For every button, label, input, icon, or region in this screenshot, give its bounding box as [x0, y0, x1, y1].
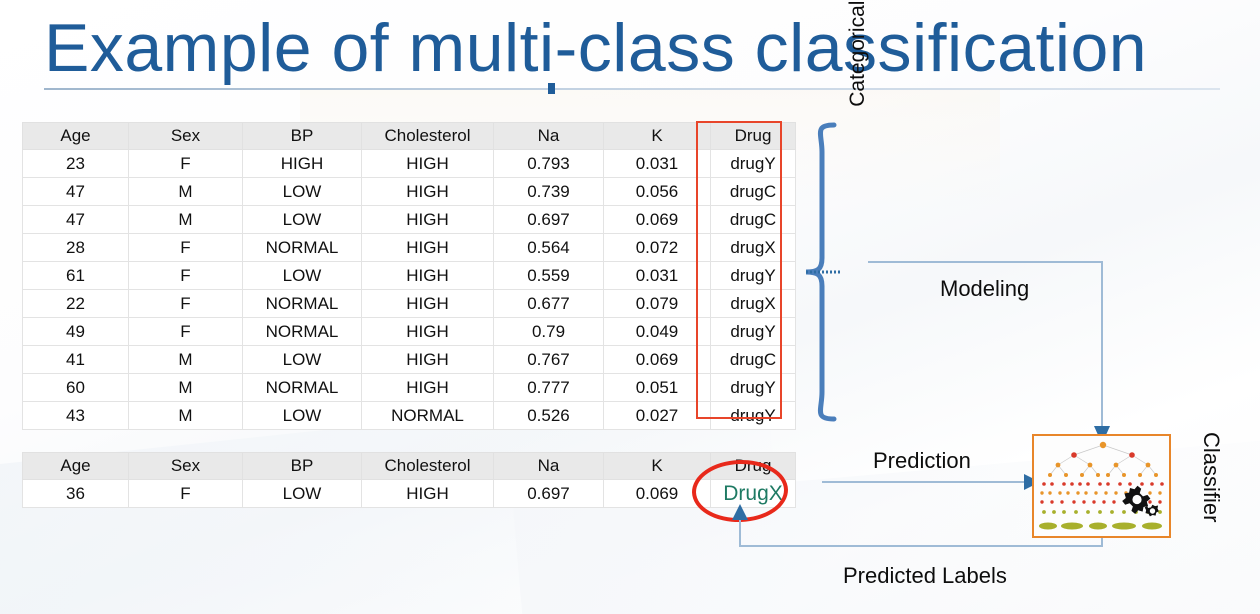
cell-k: 0.079: [604, 290, 711, 318]
cell-chol: HIGH: [362, 374, 494, 402]
cell-bp: LOW: [243, 178, 362, 206]
cell-drug: drugY: [711, 318, 796, 346]
slide-canvas: Example of multi-class classification Ag…: [0, 0, 1260, 614]
cell-bp: HIGH: [243, 150, 362, 178]
cell-chol: NORMAL: [362, 402, 494, 430]
cell-bp: NORMAL: [243, 318, 362, 346]
table-row: 49 F NORMAL HIGH 0.79 0.049 drugY: [23, 318, 796, 346]
table-row: 41 M LOW HIGH 0.767 0.069 drugC: [23, 346, 796, 374]
cell-chol: HIGH: [362, 206, 494, 234]
cell-drug: drugX: [711, 234, 796, 262]
cell-age: 28: [23, 234, 129, 262]
column-header-na: Na: [494, 453, 604, 480]
cell-k: 0.049: [604, 318, 711, 346]
column-header-sex: Sex: [129, 123, 243, 150]
cell-sex: F: [129, 318, 243, 346]
column-header-k: K: [604, 453, 711, 480]
column-header-drug: Drug: [711, 453, 796, 480]
cell-age: 47: [23, 206, 129, 234]
cell-age: 47: [23, 178, 129, 206]
cell-bp: LOW: [243, 480, 362, 508]
cell-bp: NORMAL: [243, 234, 362, 262]
cell-drug: drugY: [711, 402, 796, 430]
title-rule-marker: [548, 83, 555, 94]
table-row: 22 F NORMAL HIGH 0.677 0.079 drugX: [23, 290, 796, 318]
classifier-label: Classifier: [1196, 432, 1224, 582]
cell-age: 36: [23, 480, 129, 508]
table-row: 47 M LOW HIGH 0.697 0.069 drugC: [23, 206, 796, 234]
curly-brace-icon: [800, 122, 856, 422]
cell-age: 22: [23, 290, 129, 318]
cell-chol: HIGH: [362, 346, 494, 374]
column-header-cholesterol: Cholesterol: [362, 453, 494, 480]
column-header-k: K: [604, 123, 711, 150]
cell-bp: LOW: [243, 206, 362, 234]
table-row: 60 M NORMAL HIGH 0.777 0.051 drugY: [23, 374, 796, 402]
cell-bp: NORMAL: [243, 374, 362, 402]
cell-k: 0.031: [604, 150, 711, 178]
cell-drug: drugY: [711, 262, 796, 290]
cell-k: 0.056: [604, 178, 711, 206]
cell-k: 0.069: [604, 346, 711, 374]
cell-age: 61: [23, 262, 129, 290]
cell-chol: HIGH: [362, 480, 494, 508]
cell-drug: drugC: [711, 206, 796, 234]
cell-sex: F: [129, 290, 243, 318]
cell-sex: M: [129, 374, 243, 402]
cell-chol: HIGH: [362, 262, 494, 290]
cell-age: 49: [23, 318, 129, 346]
prediction-label: Prediction: [873, 448, 971, 474]
table-row: 28 F NORMAL HIGH 0.564 0.072 drugX: [23, 234, 796, 262]
cell-bp: LOW: [243, 402, 362, 430]
column-header-bp: BP: [243, 453, 362, 480]
cell-drug: drugC: [711, 178, 796, 206]
predicted-labels-label: Predicted Labels: [843, 563, 1007, 589]
column-header-age: Age: [23, 123, 129, 150]
cell-chol: HIGH: [362, 150, 494, 178]
cell-na: 0.793: [494, 150, 604, 178]
cell-na: 0.564: [494, 234, 604, 262]
cell-drug: drugY: [711, 150, 796, 178]
cell-age: 43: [23, 402, 129, 430]
cell-sex: F: [129, 150, 243, 178]
cell-bp: LOW: [243, 346, 362, 374]
decision-tree-diagram-icon: [1034, 436, 1171, 538]
cell-bp: NORMAL: [243, 290, 362, 318]
cell-sex: F: [129, 480, 243, 508]
table-row: 61 F LOW HIGH 0.559 0.031 drugY: [23, 262, 796, 290]
cell-predicted-drug: DrugX: [711, 480, 796, 508]
cell-age: 23: [23, 150, 129, 178]
cell-na: 0.526: [494, 402, 604, 430]
column-header-age: Age: [23, 453, 129, 480]
cell-na: 0.767: [494, 346, 604, 374]
column-header-drug: Drug: [711, 123, 796, 150]
column-header-bp: BP: [243, 123, 362, 150]
table-row: 43 M LOW NORMAL 0.526 0.027 drugY: [23, 402, 796, 430]
prediction-row-table: Age Sex BP Cholesterol Na K Drug 36 F LO…: [22, 452, 796, 508]
cell-age: 60: [23, 374, 129, 402]
cell-chol: HIGH: [362, 318, 494, 346]
cell-k: 0.069: [604, 206, 711, 234]
training-data-table: Age Sex BP Cholesterol Na K Drug 23 F HI…: [22, 122, 796, 430]
cell-sex: M: [129, 206, 243, 234]
cell-na: 0.739: [494, 178, 604, 206]
cell-bp: LOW: [243, 262, 362, 290]
cell-na: 0.559: [494, 262, 604, 290]
gear-icon: [1122, 486, 1159, 517]
column-header-na: Na: [494, 123, 604, 150]
cell-drug: drugC: [711, 346, 796, 374]
cell-drug: drugX: [711, 290, 796, 318]
modeling-label: Modeling: [940, 276, 1029, 302]
column-header-cholesterol: Cholesterol: [362, 123, 494, 150]
table-header-row: Age Sex BP Cholesterol Na K Drug: [23, 453, 796, 480]
cell-age: 41: [23, 346, 129, 374]
cell-chol: HIGH: [362, 290, 494, 318]
cell-chol: HIGH: [362, 178, 494, 206]
cell-k: 0.051: [604, 374, 711, 402]
table-row: 23 F HIGH HIGH 0.793 0.031 drugY: [23, 150, 796, 178]
cell-na: 0.777: [494, 374, 604, 402]
cell-k: 0.069: [604, 480, 711, 508]
column-header-sex: Sex: [129, 453, 243, 480]
slide-title: Example of multi-class classification: [44, 8, 1224, 88]
cell-na: 0.697: [494, 206, 604, 234]
cell-drug: drugY: [711, 374, 796, 402]
cell-k: 0.027: [604, 402, 711, 430]
cell-sex: M: [129, 178, 243, 206]
cell-na: 0.79: [494, 318, 604, 346]
cell-sex: M: [129, 346, 243, 374]
table-header-row: Age Sex BP Cholesterol Na K Drug: [23, 123, 796, 150]
categorical-variable-label: Categorical Variable: [846, 0, 876, 158]
cell-sex: M: [129, 402, 243, 430]
cell-na: 0.697: [494, 480, 604, 508]
cell-k: 0.072: [604, 234, 711, 262]
table-row: 47 M LOW HIGH 0.739 0.056 drugC: [23, 178, 796, 206]
classifier-illustration: [1032, 434, 1171, 538]
cell-sex: F: [129, 262, 243, 290]
cell-na: 0.677: [494, 290, 604, 318]
title-underline-rule: [44, 88, 1220, 90]
cell-chol: HIGH: [362, 234, 494, 262]
table-row: 36 F LOW HIGH 0.697 0.069 DrugX: [23, 480, 796, 508]
cell-k: 0.031: [604, 262, 711, 290]
cell-sex: F: [129, 234, 243, 262]
